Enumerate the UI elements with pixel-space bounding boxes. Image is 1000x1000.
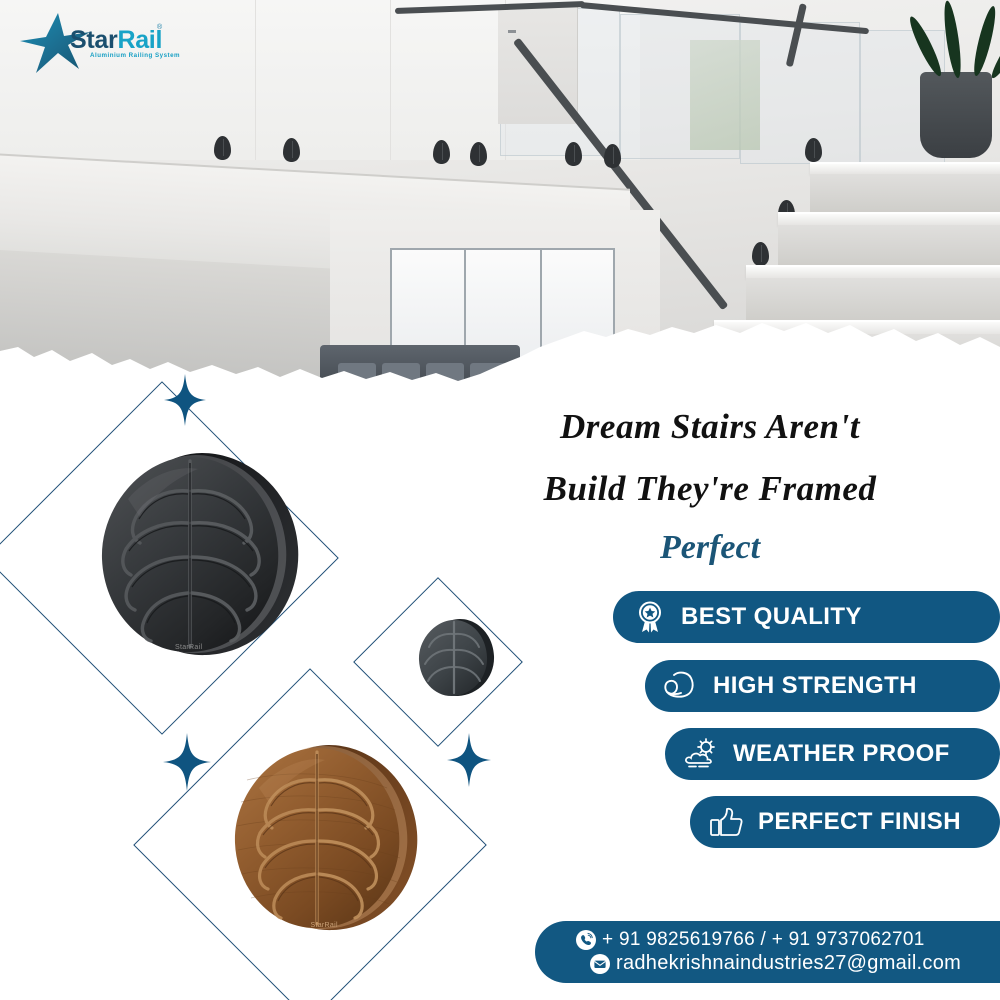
feature-label: PERFECT FINISH bbox=[758, 808, 961, 836]
product-black-leaf-panel-large: StarRail bbox=[70, 447, 320, 662]
logo-wordmark: StarRail bbox=[70, 26, 162, 55]
leaf-spigot-icon bbox=[604, 144, 621, 168]
award-ribbon-icon bbox=[627, 600, 673, 634]
product-brand-mark: StarRail bbox=[175, 644, 202, 651]
contact-phone-text: + 91 9825619766 / + 91 9737062701 bbox=[602, 929, 925, 951]
planter-pot bbox=[920, 72, 992, 158]
stair-riser bbox=[778, 225, 1000, 265]
leaf-spigot-icon bbox=[470, 142, 487, 166]
logo-text-star: Star bbox=[70, 26, 117, 54]
stair-riser bbox=[746, 278, 1000, 320]
logo-tagline: Aluminium Railing System bbox=[90, 52, 180, 59]
wall-seam bbox=[255, 0, 256, 160]
leaf-spigot-icon bbox=[433, 140, 450, 164]
feature-badge-best-quality[interactable]: BEST QUALITY bbox=[613, 591, 1000, 643]
headline-accent: Perfect bbox=[430, 520, 990, 576]
feature-label: WEATHER PROOF bbox=[733, 740, 950, 768]
headline-line-2: Build They're Framed bbox=[430, 458, 990, 520]
contact-email-text: radhekrishnaindustries27@gmail.com bbox=[616, 952, 961, 975]
sparkle-icon bbox=[164, 374, 206, 426]
stair-step bbox=[778, 212, 1000, 225]
poster-canvas: StarRail ® Aluminium Railing System Drea… bbox=[0, 0, 1000, 1000]
bicep-muscle-icon bbox=[659, 669, 705, 703]
product-black-leaf-panel-small bbox=[408, 616, 500, 698]
headline-block: Dream Stairs Aren't Build They're Framed… bbox=[430, 396, 990, 576]
thumbs-up-icon bbox=[704, 805, 750, 839]
contact-phone-row[interactable]: + 91 9825619766 / + 91 9737062701 bbox=[575, 929, 1000, 951]
contact-email-row[interactable]: radhekrishnaindustries27@gmail.com bbox=[589, 952, 1000, 975]
leaf-spigot-icon bbox=[214, 136, 231, 160]
registered-mark: ® bbox=[157, 24, 162, 31]
torn-paper-edge bbox=[0, 317, 1000, 385]
contact-bar: + 91 9825619766 / + 91 9737062701 radhek… bbox=[535, 921, 1000, 983]
door-handle bbox=[508, 30, 516, 33]
logo-text-rail: Rail bbox=[117, 26, 162, 54]
stair-riser bbox=[810, 174, 1000, 212]
feature-badge-high-strength[interactable]: HIGH STRENGTH bbox=[645, 660, 1000, 712]
sun-cloud-icon bbox=[679, 737, 725, 771]
stair-step bbox=[810, 162, 1000, 174]
brand-logo[interactable]: StarRail ® Aluminium Railing System bbox=[18, 12, 178, 74]
product-wood-leaf-panel-large: StarRail bbox=[207, 740, 437, 935]
headline-line-1: Dream Stairs Aren't bbox=[430, 396, 990, 458]
wall-seam bbox=[390, 0, 391, 160]
sparkle-icon bbox=[447, 733, 491, 787]
product-brand-mark: StarRail bbox=[311, 922, 338, 929]
stair-step bbox=[746, 265, 1000, 278]
feature-badge-perfect-finish[interactable]: PERFECT FINISH bbox=[690, 796, 1000, 848]
leaf-spigot-icon bbox=[565, 142, 582, 166]
sparkle-icon bbox=[163, 733, 211, 791]
feature-label: HIGH STRENGTH bbox=[713, 672, 917, 700]
phone-icon bbox=[575, 929, 597, 951]
leaf-spigot-icon bbox=[283, 138, 300, 162]
feature-badge-weather-proof[interactable]: WEATHER PROOF bbox=[665, 728, 1000, 780]
envelope-icon bbox=[589, 953, 611, 975]
feature-label: BEST QUALITY bbox=[681, 603, 862, 631]
